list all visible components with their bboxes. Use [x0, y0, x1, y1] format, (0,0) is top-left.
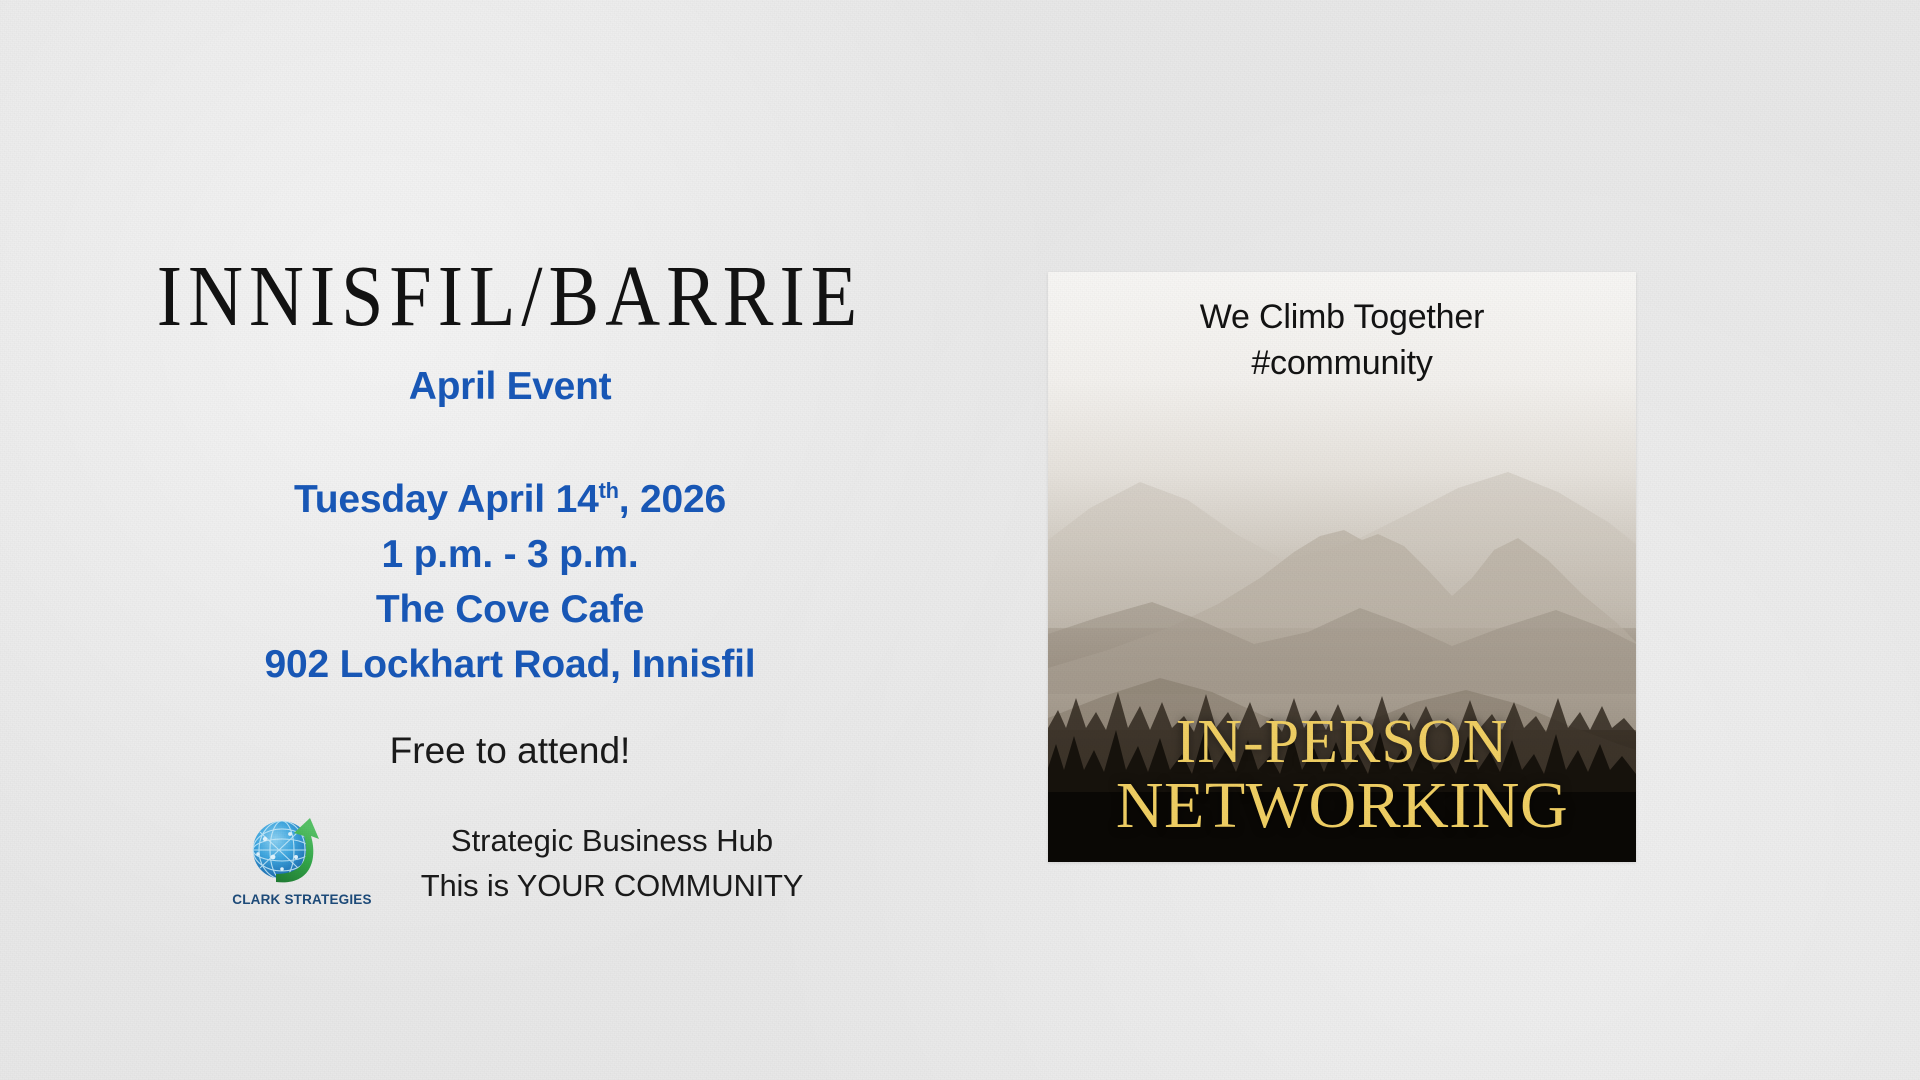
photo-caption-line-2: #community	[1048, 340, 1636, 386]
logo-wordmark: CLARK STRATEGIES	[232, 892, 371, 907]
tagline-line-1: Strategic Business Hub	[372, 818, 852, 863]
photo-image: We Climb Together #community IN-PERSON N…	[1048, 272, 1636, 862]
photo-caption-line-1: We Climb Together	[1048, 294, 1636, 340]
event-date: Tuesday April 14th, 2026	[0, 478, 1020, 522]
event-address: 902 Lockhart Road, Innisfil	[0, 643, 1020, 687]
event-date-prefix: Tuesday April 14	[294, 478, 599, 521]
photo-headline-line-2: NETWORKING	[1048, 774, 1636, 838]
event-date-ordinal: th	[599, 478, 619, 503]
event-date-suffix: , 2026	[619, 478, 726, 521]
tagline-line-2: This is YOUR COMMUNITY	[372, 863, 852, 908]
event-time: 1 p.m. - 3 p.m.	[0, 533, 1020, 577]
event-info-column: INNISFIL/BARRIE April Event Tuesday Apri…	[0, 0, 1020, 1080]
photo-headline-line-1: IN-PERSON	[1048, 710, 1636, 774]
photo-caption: We Climb Together #community	[1048, 294, 1636, 386]
footer-tagline: Strategic Business Hub This is YOUR COMM…	[372, 818, 852, 908]
page-title: INNISFIL/BARRIE	[0, 253, 1020, 340]
clark-strategies-logo: CLARK STRATEGIES	[232, 812, 372, 912]
event-subtitle: April Event	[0, 365, 1020, 409]
photo-headline: IN-PERSON NETWORKING	[1048, 710, 1636, 838]
event-venue: The Cove Cafe	[0, 588, 1020, 632]
networking-photo-card: We Climb Together #community IN-PERSON N…	[1048, 272, 1636, 862]
free-to-attend-note: Free to attend!	[0, 730, 1020, 772]
poster-canvas: INNISFIL/BARRIE April Event Tuesday Apri…	[0, 0, 1920, 1080]
footer-block: CLARK STRATEGIES Strategic Business Hub …	[232, 812, 852, 922]
